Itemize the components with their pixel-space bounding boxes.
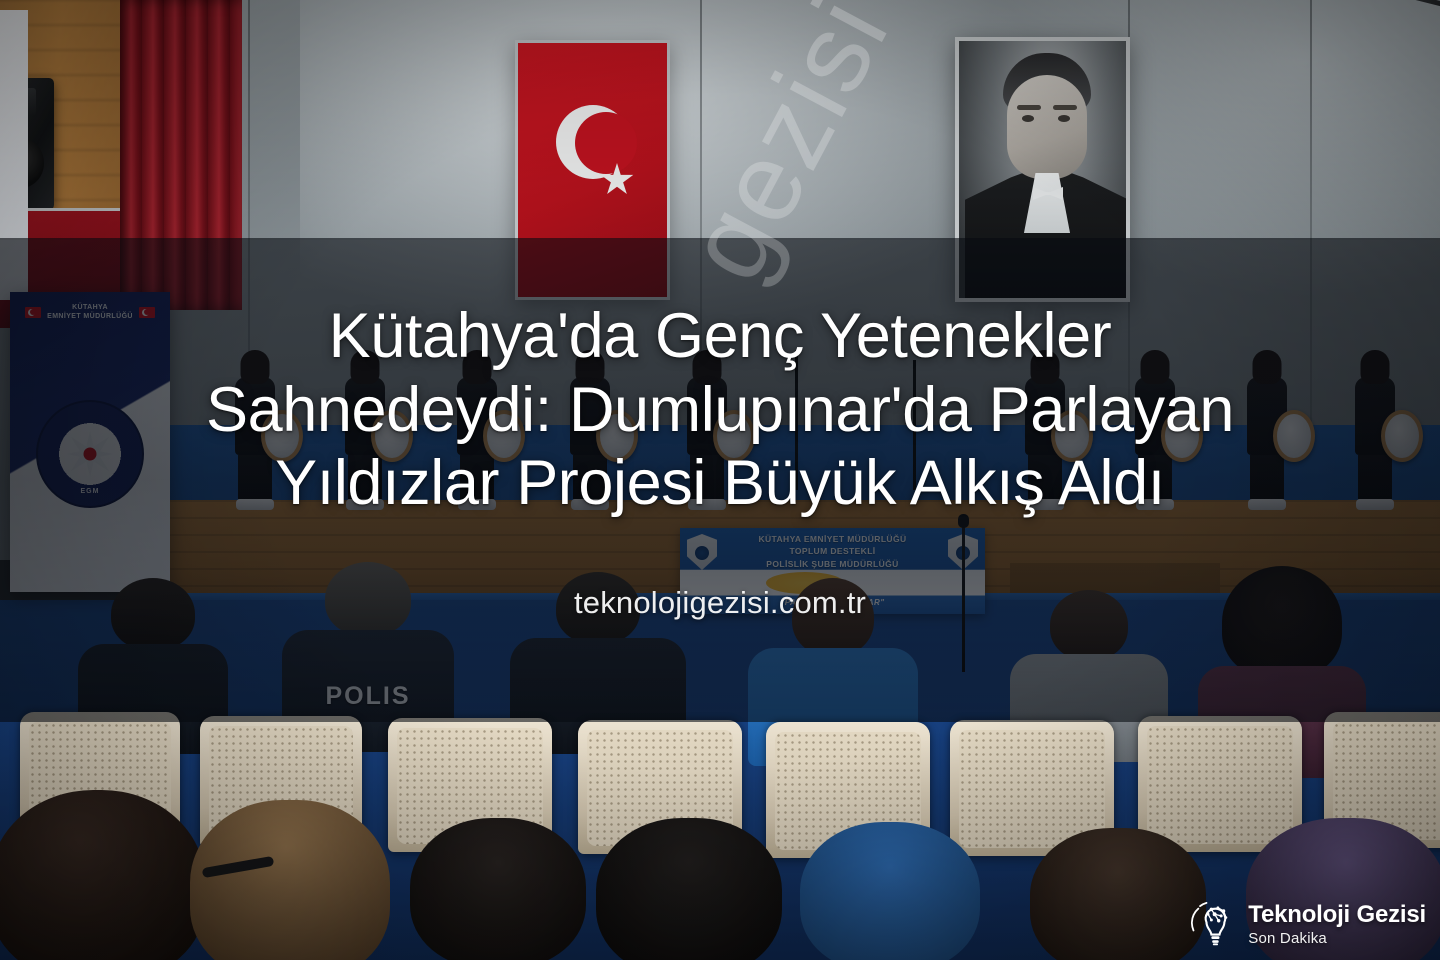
brand-subtitle: Son Dakika: [1248, 931, 1426, 946]
news-hero-photo: KÜTAHYA EMNİYET MÜDÜRLÜĞÜ EGM KÜTAHYA EM…: [0, 0, 1440, 960]
headline-line-2: Sahnedeydi: Dumlupınar'da Parlayan: [60, 374, 1380, 448]
brand-title: Teknoloji Gezisi: [1248, 903, 1426, 927]
headline-line-3: Yıldızlar Projesi Büyük Alkış Aldı: [60, 447, 1380, 521]
top-shade-overlay: [0, 0, 1440, 240]
site-url-watermark: teknolojigezisi.com.tr: [0, 585, 1440, 621]
brand-text-block: Teknoloji Gezisi Son Dakika: [1248, 903, 1426, 946]
page-title: Kütahya'da Genç Yetenekler Sahnedeydi: D…: [0, 300, 1440, 521]
headline-line-1: Kütahya'da Genç Yetenekler: [60, 300, 1380, 374]
brand-logo[interactable]: Teknoloji Gezisi Son Dakika: [1187, 898, 1426, 950]
lightbulb-circuit-icon: [1187, 898, 1239, 950]
